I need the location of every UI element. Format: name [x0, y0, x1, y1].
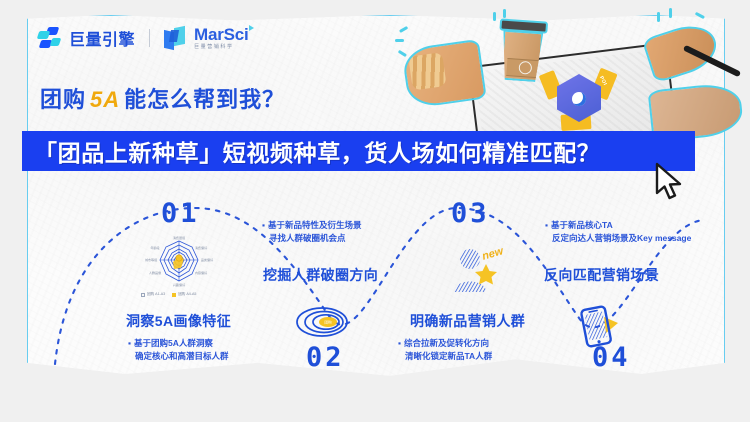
hexagon-graphic: POI: [543, 64, 615, 136]
legend-label: 团购 A1-A3: [147, 292, 165, 297]
question-suffix: 能怎么帮到我？: [124, 87, 285, 112]
bullet-line-1: 综合拉新及促转化方向: [404, 338, 489, 348]
cup-body: [500, 30, 543, 83]
spark-mark: [657, 12, 660, 22]
radar-chart-icon: 消费层级 消费偏好 品类偏好 内容偏好 兴趣偏好 人群画像 城市等级 年龄段 团…: [131, 236, 227, 304]
question-headline: 团购5A能怎么帮到我？: [40, 82, 285, 114]
new-audience-icon: new: [448, 244, 506, 298]
svg-text:内容偏好: 内容偏好: [195, 270, 207, 275]
slide-canvas: 巨量引擎 MarSci 巨量营销科学 团购5A能怎么帮到我？ P: [0, 0, 750, 422]
brand-divider: [149, 29, 150, 47]
step-title-03: 明确新品营销人群: [410, 311, 525, 331]
legend-item: 团购 A1-A3: [141, 292, 165, 297]
svg-text:城市等级: 城市等级: [145, 257, 157, 262]
bullet-line-2: 反定向达人营销场景及Key message: [545, 232, 691, 245]
brand-logo-bar: 巨量引擎 MarSci 巨量营销科学: [38, 26, 249, 50]
step-number-03: 03: [451, 198, 490, 229]
question-highlight: 5A: [86, 87, 124, 112]
step-title-04: 反向匹配营销场景: [544, 265, 659, 285]
brand-name-cn: 巨量引擎: [69, 26, 135, 50]
bullet-line-2: 清晰化锁定新品TA人群: [398, 350, 492, 363]
legend-item: 团购 A4-A5: [172, 292, 196, 297]
bullet-line-1: 基于新品特性及衍生场景: [268, 220, 362, 230]
svg-text:年龄段: 年龄段: [150, 245, 159, 250]
spark-mark: [503, 9, 506, 18]
legend-label: 团购 A4-A5: [178, 292, 196, 297]
marsci-cube-icon: [164, 27, 185, 50]
step-bullet-02: ▪基于新品特性及衍生场景 寻找人群破圈机会点: [262, 219, 362, 245]
bullet-line-2: 确定核心和高潜目标人群: [128, 350, 229, 363]
hand-holding-stylus: [642, 18, 723, 83]
step-title-01: 洞察5A画像特征: [126, 311, 231, 331]
svg-text:品类偏好: 品类偏好: [201, 257, 213, 262]
svg-text:团购: 团购: [324, 320, 332, 325]
question-prefix: 团购: [40, 87, 86, 112]
marsci-wordmark: MarSci: [194, 26, 249, 43]
bullet-line-1: 基于团购5A人群洞察: [134, 338, 213, 348]
spark-mark: [669, 8, 672, 18]
radar-legend: 团购 A1-A3 团购 A4-A5: [141, 292, 196, 297]
marsci-lockup: MarSci 巨量营销科学: [194, 26, 249, 50]
target-rings-icon: 团购: [295, 305, 349, 339]
bullet-line-1: 基于新品核心TA: [551, 220, 613, 230]
step-number-01: 01: [161, 198, 200, 229]
step-title-02: 挖掘人群破圈方向: [263, 265, 378, 285]
step-bullet-03: ▪综合拉新及促转化方向 清晰化锁定新品TA人群: [398, 337, 492, 363]
step-number-04: 04: [592, 342, 631, 373]
svg-text:人群画像: 人群画像: [149, 270, 161, 275]
spark-mark: [395, 39, 404, 42]
step-bullet-04: ▪基于新品核心TA 反定向达人营销场景及Key message: [545, 219, 691, 245]
spark-mark: [399, 26, 408, 33]
spark-mark: [398, 50, 407, 57]
main-banner: 「团品上新种草」短视频种草，货人场如何精准匹配？: [22, 131, 695, 171]
ocean-engine-logo-icon: [38, 27, 60, 49]
bullet-line-2: 寻找人群破圈机会点: [262, 232, 362, 245]
banner-title: 「团品上新种草」短视频种草，货人场如何精准匹配？: [22, 134, 600, 168]
svg-text:消费层级: 消费层级: [173, 236, 185, 240]
svg-text:兴趣偏好: 兴趣偏好: [173, 282, 185, 287]
spark-mark: [493, 12, 496, 21]
coffee-cup: [498, 19, 546, 84]
marsci-subtitle: 巨量营销科学: [194, 45, 249, 50]
hand-holding-left: [401, 39, 487, 109]
svg-text:消费偏好: 消费偏好: [195, 245, 207, 250]
spark-mark: [695, 12, 705, 19]
step-number-02: 02: [306, 342, 345, 373]
step-bullet-01: ▪基于团购5A人群洞察 确定核心和高潜目标人群: [128, 337, 229, 363]
